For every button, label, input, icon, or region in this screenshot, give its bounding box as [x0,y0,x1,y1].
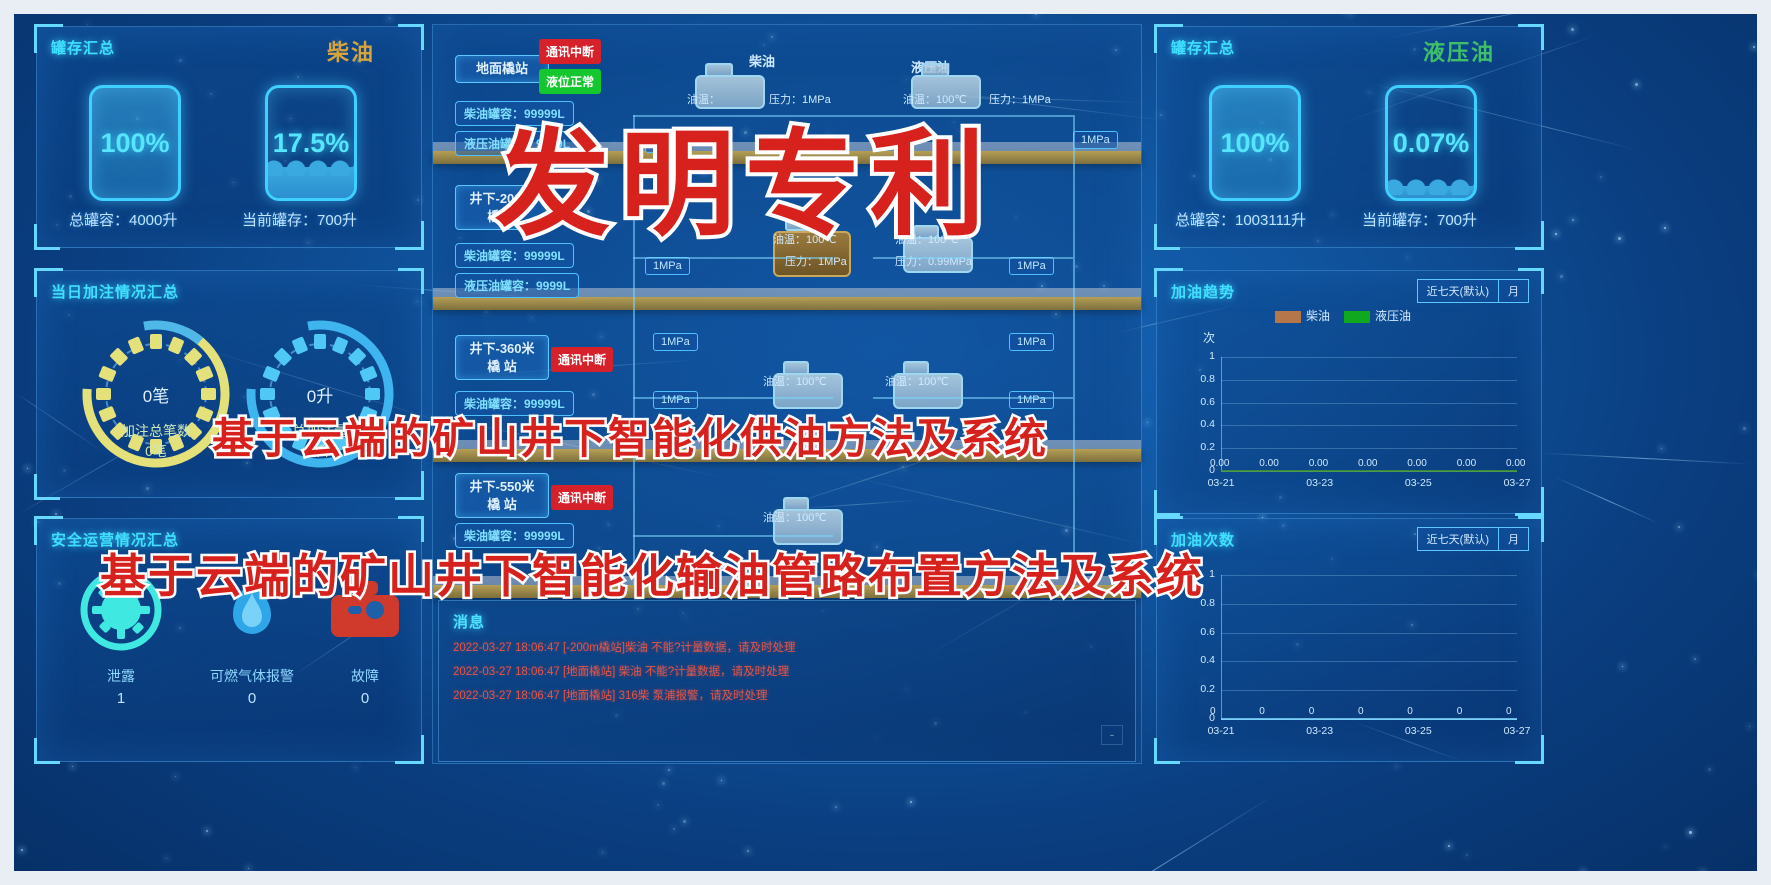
tank-diesel-total-pct: 100% [100,128,169,159]
chart-y-axis [1221,357,1222,471]
chart-gridline [1221,633,1517,634]
legend-item-diesel: 柴油 [1275,307,1330,324]
chart-ytick: 0.2 [1177,683,1215,695]
chart-point-label: 0.00 [1457,458,1476,469]
watermark-line-2: 基于云端的矿山井下智能化输油管路布置方法及系统 [100,540,1204,606]
chart-point-label: 0 [1210,706,1216,717]
equipment-label-temp-5: 油温：100℃ [763,373,827,389]
chart-gridline [1221,425,1517,426]
tank-hydraulic-current: 0.07% [1385,85,1477,201]
panel-title-hydraulic-stock: 罐存汇总 [1171,37,1235,58]
legend-item-hydraulic: 液压油 [1344,307,1411,324]
pressure-tag-5: 1MPa [653,333,698,351]
chart-point-label: 0.00 [1259,458,1278,469]
safety-label-fault: 故障 [317,666,413,686]
chart-gridline [1221,448,1517,449]
caption-diesel-total: 总罐容：4000升 [69,209,177,230]
station-badge-ground-comm: 通讯中断 [539,39,601,64]
chart-xtick: 03-25 [1394,477,1442,489]
chart-point-label: 0.00 [1407,458,1426,469]
panel-diesel-stock: 罐存汇总 柴油 100% 17.5% 总罐容：4000升 当前罐存：700升 [36,26,422,248]
chart-ytick: 0.2 [1177,441,1215,453]
chart-gridline [1221,604,1517,605]
panel-chart-refuel-count: 加油次数 近七天(默认) 月 00.20.40.60.81000000003-2… [1156,518,1542,762]
equipment-head-hydraulic-ground [921,63,949,77]
chart-range-buttons-trend[interactable]: 近七天(默认) 月 [1417,279,1529,303]
chart-xtick: 03-23 [1296,725,1344,737]
safety-label-gas-alarm: 可燃气体报警 [177,666,327,686]
caption-diesel-current: 当前罐存：700升 [242,209,357,230]
station-badge-ground-level: 液位正常 [539,69,601,94]
chart-point-label: 0 [1407,706,1413,717]
legend-swatch-hydraulic [1344,311,1370,323]
panel-title-diesel-stock: 罐存汇总 [51,37,115,58]
gauge-refuel-count-label: 加注总笔数 0笔 [81,421,231,462]
watermark-main: 发明专利 [495,92,995,258]
chart-gridline [1221,661,1517,662]
chart-point-label: 0 [1358,706,1364,717]
chart-btn-month-count[interactable]: 月 [1499,527,1529,551]
pressure-tag-4: 1MPa [1009,257,1054,275]
chart-series-line [1221,718,1517,720]
chart-ytick: 0.8 [1177,373,1215,385]
dashboard-root: 罐存汇总 柴油 100% 17.5% 总罐容：4000升 当前罐存：700升 当… [0,0,1771,885]
chart-point-label: 0.00 [1210,458,1229,469]
panel-messages: 消息 2022-03-27 18:06:47 [-200m橇站]柴油 不能?计量… [438,600,1136,762]
product-label-diesel: 柴油 [327,35,375,67]
station-badge-550m-comm: 通讯中断 [551,485,613,510]
tank-diesel-current: 17.5% [265,85,357,201]
tank-hydraulic-wave [1388,186,1474,198]
panel-chart-refuel-trend: 加油趋势 近七天(默认) 月 柴油 液压油 次 00.20.40.60.810.… [1156,270,1542,514]
chart-xtick: 03-27 [1493,477,1541,489]
chart-gridline [1221,380,1517,381]
chart-btn-seven-days-trend[interactable]: 近七天(默认) [1417,279,1499,303]
equipment-label-temp-7: 油温：100℃ [763,509,827,525]
chart-range-buttons-count[interactable]: 近七天(默认) 月 [1417,527,1529,551]
safety-value-gas-alarm: 0 [177,690,327,707]
tank-hydraulic-total-pct: 100% [1220,128,1289,159]
safety-label-leak: 泄露 [61,666,181,686]
caption-hydraulic-total: 总罐容：1003111升 [1175,209,1306,230]
equipment-label-press-2: 压力：1MPa [989,91,1051,107]
chart-point-label: 0.00 [1309,458,1328,469]
equipment-head-diesel-ground [705,63,733,77]
pressure-tag-2: 1MPa [1073,131,1118,149]
chart-plot-refuel-trend: 00.20.40.60.810.000.000.000.000.000.000.… [1177,347,1527,497]
chart-xtick: 03-21 [1197,725,1245,737]
safety-value-fault: 0 [317,690,413,707]
safety-value-leak: 1 [61,690,181,707]
equipment-label-temp-6: 油温：100℃ [885,373,949,389]
chart-xtick: 03-27 [1493,725,1541,737]
pressure-tag-6: 1MPa [1009,333,1054,351]
product-label-hydraulic: 液压油 [1423,35,1495,67]
chart-btn-seven-days-count[interactable]: 近七天(默认) [1417,527,1499,551]
chart-point-label: 0.00 [1506,458,1525,469]
pressure-tag-3: 1MPa [645,257,690,275]
station-badge-360m-comm: 通讯中断 [551,347,613,372]
station-cap-200m-hydraulic: 液压油罐容：9999L [455,273,579,298]
chart-point-label: 0 [1457,706,1463,717]
station-name-550m[interactable]: 井下-550米 橇 站 [455,473,549,518]
tank-hydraulic-total: 100% [1209,85,1301,201]
chart-series-line [1221,470,1517,472]
watermark-line-1: 基于云端的矿山井下智能化供油方法及系统 [212,405,1048,466]
chart-ytick: 0.6 [1177,626,1215,638]
chart-btn-month-trend[interactable]: 月 [1499,279,1529,303]
chart-point-label: 0.00 [1358,458,1377,469]
chart-title-refuel-trend: 加油趋势 [1171,281,1235,302]
chart-point-label: 0 [1506,706,1512,717]
chart-ylabel-trend: 次 [1203,329,1215,346]
panel-title-today-refuel: 当日加注情况汇总 [51,281,179,302]
chart-xtick: 03-23 [1296,477,1344,489]
chart-ytick: 1 [1177,350,1215,362]
chart-gridline [1221,575,1517,576]
pipe-main-hydraulic [1073,115,1075,585]
chart-y-axis [1221,575,1222,719]
legend-swatch-diesel [1275,311,1301,323]
message-line-1: 2022-03-27 18:06:47 [-200m橇站]柴油 不能?计量数据，… [453,639,796,655]
pipe-cross-360m-b [873,397,1073,399]
tank-diesel-wave [268,167,354,198]
chart-point-label: 0 [1309,706,1315,717]
strata-level-200m [433,297,1141,310]
pipe-cross-550m [633,535,833,537]
pipe-cross-360m [633,397,833,399]
chart-ytick: 0.4 [1177,418,1215,430]
panel-hydraulic-stock: 罐存汇总 液压油 100% 0.07% 总罐容：1003111升 当前罐存：70… [1156,26,1542,248]
chart-ytick: 0.6 [1177,396,1215,408]
panel-title-messages: 消息 [453,611,485,632]
tank-diesel-current-pct: 17.5% [273,128,350,159]
chart-xtick: 03-21 [1197,477,1245,489]
chart-legend-trend: 柴油 液压油 [1275,307,1411,324]
chart-ytick: 0.4 [1177,654,1215,666]
tank-diesel-total: 100% [89,85,181,201]
station-name-360m[interactable]: 井下-360米 橇 站 [455,335,549,380]
chart-xtick: 03-25 [1394,725,1442,737]
chart-point-label: 0 [1259,706,1265,717]
caption-hydraulic-current: 当前罐存：700升 [1362,209,1477,230]
message-line-2: 2022-03-27 18:06:47 [地面橇站] 柴油 不能?计量数据，请及… [453,663,789,679]
chart-gridline [1221,690,1517,691]
column-header-diesel: 柴油 [749,51,775,70]
station-name-ground[interactable]: 地面橇站 [455,55,549,83]
chart-gridline [1221,357,1517,358]
chart-plot-refuel-count: 00.20.40.60.81000000003-2103-2303-2503-2… [1177,565,1527,745]
message-line-3: 2022-03-27 18:06:47 [地面橇站] 316柴 泵浦报警，请及时… [453,687,767,703]
chart-gridline [1221,403,1517,404]
tank-hydraulic-current-pct: 0.07% [1393,128,1470,159]
